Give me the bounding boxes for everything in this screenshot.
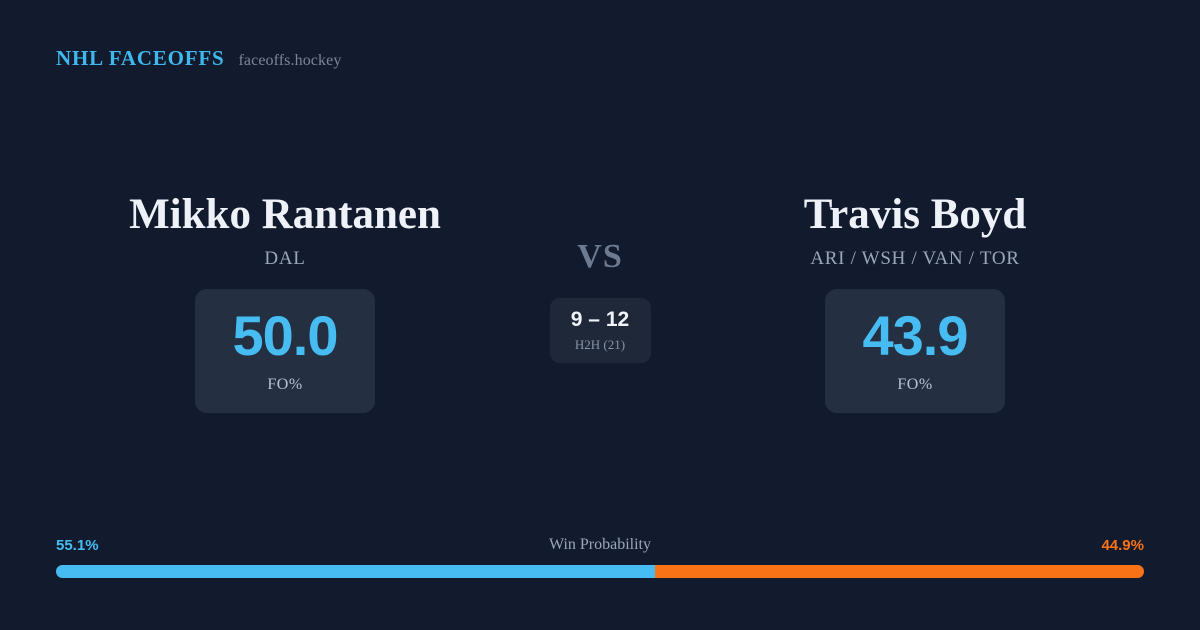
player-left-faceoff-label: FO% [267, 376, 302, 394]
site-domain: faceoffs.hockey [238, 52, 341, 70]
player-right-faceoff-label: FO% [897, 376, 932, 394]
site-header: NHL FACEOFFS faceoffs.hockey [56, 46, 341, 71]
brand-title: NHL FACEOFFS [56, 46, 224, 71]
win-probability-section: 55.1% Win Probability 44.9% [56, 534, 1144, 578]
player-left-name: Mikko Rantanen [129, 190, 441, 239]
win-probability-bar [56, 565, 1144, 578]
versus-block: VS 9 – 12 H2H (21) [520, 190, 680, 363]
win-probability-title: Win Probability [56, 536, 1144, 554]
player-right-name: Travis Boyd [804, 190, 1027, 239]
head-to-head-score: 9 – 12 [571, 309, 629, 330]
player-right-faceoff-value: 43.9 [863, 308, 968, 364]
player-right-stat-card: 43.9 FO% [825, 289, 1005, 413]
versus-label: VS [577, 238, 622, 276]
win-probability-bar-right-fill [655, 565, 1144, 578]
win-probability-bar-left-fill [56, 565, 655, 578]
head-to-head-card: 9 – 12 H2H (21) [550, 298, 651, 363]
matchup-graphic: NHL FACEOFFS faceoffs.hockey Mikko Ranta… [0, 0, 1200, 630]
player-right: Travis Boyd ARI / WSH / VAN / TOR 43.9 F… [680, 190, 1150, 413]
player-right-team: ARI / WSH / VAN / TOR [810, 248, 1019, 270]
player-left: Mikko Rantanen DAL 50.0 FO% [50, 190, 520, 413]
win-probability-labels: 55.1% Win Probability 44.9% [56, 534, 1144, 556]
player-left-stat-card: 50.0 FO% [195, 289, 375, 413]
matchup-row: Mikko Rantanen DAL 50.0 FO% VS 9 – 12 H2… [0, 190, 1200, 413]
player-left-team: DAL [264, 248, 305, 270]
player-left-faceoff-value: 50.0 [233, 308, 338, 364]
head-to-head-label: H2H (21) [575, 337, 625, 353]
